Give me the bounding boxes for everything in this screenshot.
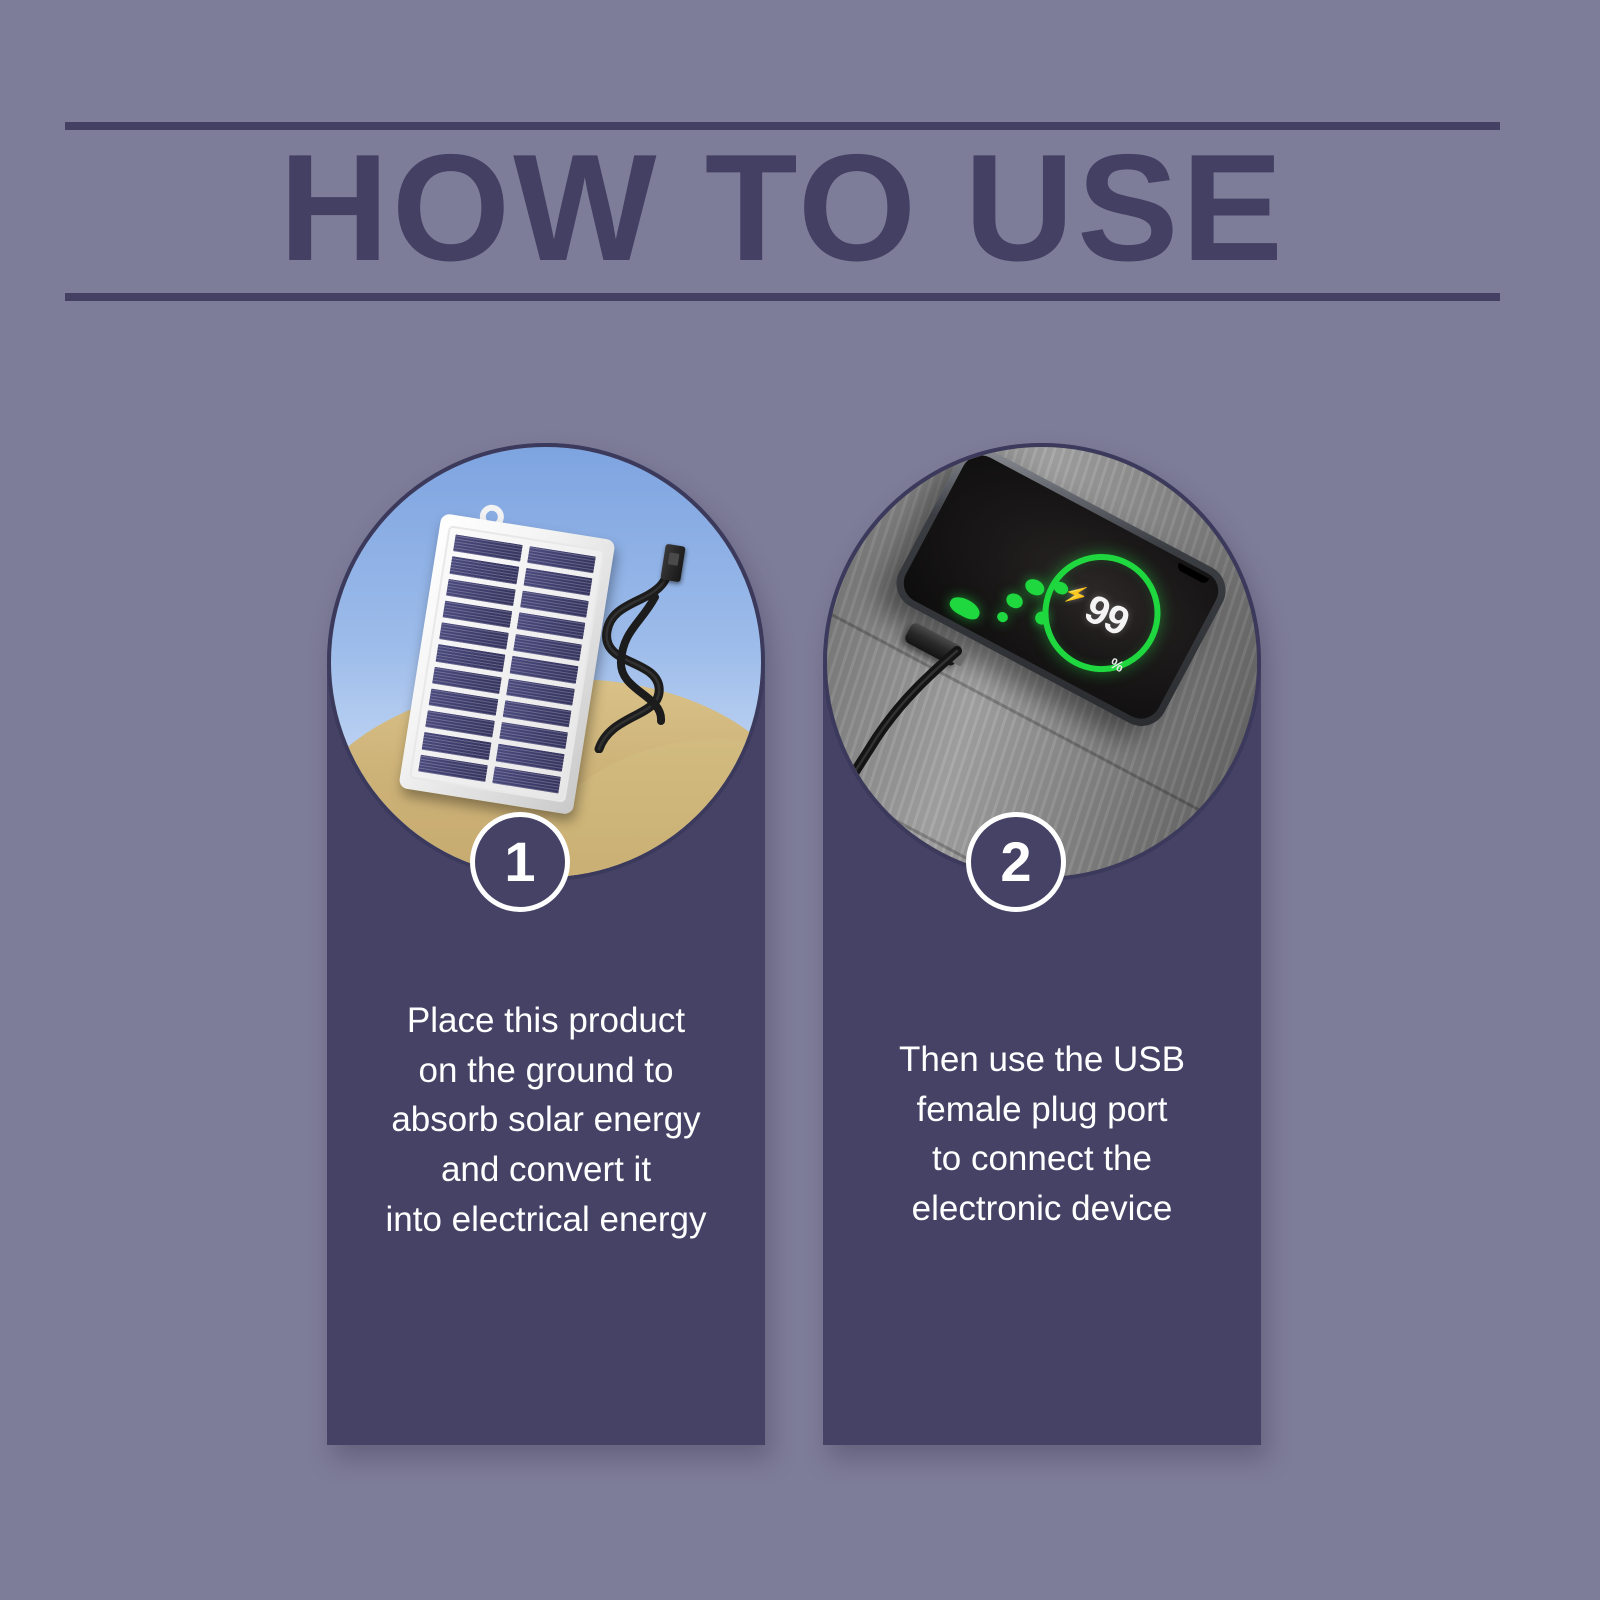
step-2-caption: Then use the USB female plug port to con…	[823, 1035, 1261, 1234]
battery-percent-symbol: %	[1107, 655, 1126, 676]
header: HOW TO USE	[65, 110, 1500, 310]
step-badge-2: 2	[966, 812, 1066, 912]
step-2-photo: ⚡ 99 %	[823, 443, 1261, 881]
header-rule-bottom	[65, 293, 1500, 301]
charging-cable	[849, 645, 979, 775]
charging-progress-ring: ⚡ 99 %	[1022, 533, 1182, 693]
charging-glow-blob	[1004, 591, 1026, 611]
page-title: HOW TO USE	[65, 128, 1500, 288]
usb-cable	[577, 553, 697, 753]
solar-panel-on-sand-image	[331, 447, 761, 877]
step-badge-1: 1	[470, 812, 570, 912]
charging-glow-blob	[995, 610, 1009, 624]
battery-readout: ⚡ 99 %	[1031, 542, 1173, 684]
step-1-photo	[327, 443, 765, 881]
phone-notch	[1176, 563, 1209, 585]
charging-glow-blob	[1022, 576, 1047, 599]
step-1-caption: Place this product on the ground to abso…	[327, 996, 765, 1244]
infographic-canvas: HOW TO USE	[0, 0, 1600, 1600]
charging-glow-blob	[947, 593, 983, 623]
phone-charging-image: ⚡ 99 %	[827, 447, 1257, 877]
